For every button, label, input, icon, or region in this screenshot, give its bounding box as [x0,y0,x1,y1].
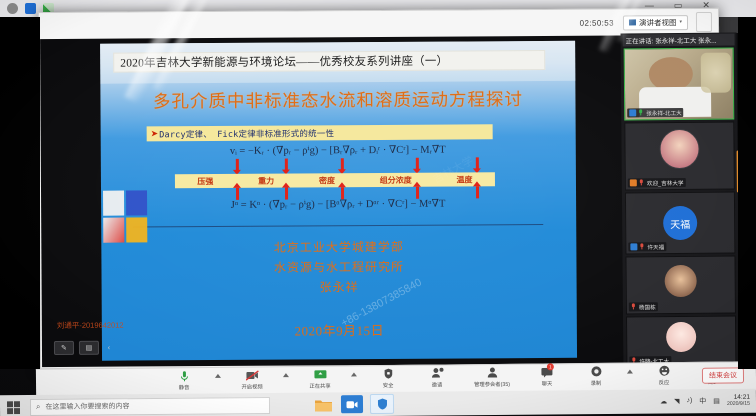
keyboard-icon[interactable]: ▤ [79,341,99,355]
affiliation-line-1: 北京工业大学城建学部 [101,237,576,257]
reactions-label: 反应 [659,378,670,386]
participant-video-sidebar: 正在讲话: 张永祥-北工大 张永... 张永祥-北工大 欢迎_吉林大学 天 [621,33,740,374]
background-decor [701,53,731,93]
bullet-band: ➤ Darcy定律、 Fick定律非标准形式的统一性 [147,124,493,141]
end-meeting-button[interactable]: 结束会议 [702,367,744,383]
presentation-stage: 2020年吉林大学新能源与环境论坛——优秀校友系列讲座（一） 多孔介质中非标准态… [40,35,719,367]
term-label-density: 密度 [319,175,335,186]
search-input[interactable]: ⌕ 在这里输入你要搜索的内容 [30,396,270,415]
participant-avatar-5 [666,322,696,352]
participant-name-4: 杨国栋 [639,303,656,311]
shield-icon [25,3,36,14]
mic-options-caret-icon[interactable] [215,374,221,378]
slide-headline: 多孔介质中非标准态水流和溶质运动方程探讨 [100,86,575,114]
term-arrowhead-up-5 [472,181,480,186]
photographed-monitor: 02:50:53 演讲者视图 ▾ fullscreen-icon — ▭ ✕ 2… [0,0,756,416]
chat-label: 聊天 [542,379,553,387]
mute-label: 静音 [179,383,190,391]
fullscreen-icon[interactable]: fullscreen-icon [696,12,712,32]
camera-off-icon [245,368,258,381]
slide-header-text: 2020年吉林大学新能源与环境论坛——优秀校友系列讲座（一） [120,53,448,71]
shield-icon [383,367,392,380]
bullet-arrow-icon: ➤ [151,128,159,139]
user-icon [630,243,637,250]
stage-watermark: 刘通平-2019642012 [57,320,124,331]
term-arrowhead-up-2 [281,183,289,188]
presenter-view-label: 演讲者视图 [639,17,677,28]
term-arrowhead-up-3 [337,182,345,187]
equation-1: vᵢ = −Kᵣ · (∇pᵣ − ρⁱg) − [Bᵣ∇ρᵣ + Dᵢʳ · … [133,143,543,158]
presenter-annotation-tools: ✎ ▤ ‹ [54,341,114,355]
bezel-left [0,17,40,369]
active-speaker-banner: 正在讲话: 张永祥-北工大 张永... [623,34,735,47]
slide-divider [133,224,543,228]
participant-avatar-4 [665,264,697,296]
participant-name-3: 许天福 [647,243,664,251]
share-screen-button[interactable]: 正在共享 [302,368,338,390]
term-label-temperature: 温度 [456,174,472,185]
screen-reflection-block [103,190,147,242]
participant-tile-1[interactable]: 张永祥-北工大 [624,48,735,121]
volume-icon[interactable]: ♪) [686,398,692,405]
user-icon [630,179,637,186]
participant-avatar-2 [659,129,699,169]
close-button[interactable]: ✕ [702,0,710,11]
maximize-button[interactable]: ▭ [674,0,683,11]
record-label: 录制 [591,379,602,387]
microphone-icon [179,369,188,382]
start-video-label: 开启视频 [241,382,262,390]
powerpoint-presenter-window: 02:50:53 演讲者视图 ▾ fullscreen-icon — ▭ ✕ 2… [38,8,721,369]
participant-initial-badge-3: 天福 [663,206,697,240]
participant-name-1: 张永祥-北工大 [646,108,682,116]
chat-unread-badge: 1 [547,363,554,370]
participant-name-tag-4: 杨国栋 [629,302,658,311]
windows-start-icon[interactable] [0,395,26,416]
security-label: 安全 [383,381,394,389]
manage-participants-button[interactable]: 管理参会者(35) [468,366,516,389]
invite-label: 邀请 [432,381,443,389]
keyboard-icon[interactable]: ▤ [713,397,720,405]
participant-tile-4[interactable]: 杨国栋 [625,256,736,315]
meeting-toolbar-items: 静音 开启视频 正在共享 安全 [166,363,731,391]
security-button[interactable]: 安全 [370,367,406,389]
monitor-icon [629,19,636,25]
bullet-text: Darcy定律、 Fick定律非标准形式的统一性 [159,127,334,140]
system-tray: ☁ ◥ ♪) 中 ▤ 14:21 2020/9/15 [660,395,756,408]
chat-button[interactable]: 1 聊天 [529,365,565,387]
equation-2: Jᵅ = Kᵅ · (∇pᵣ − ρⁱg) − [Bᵅ∇ρᵣ + Dᵅʳ · ∇… [133,197,543,212]
chevron-down-icon: ▾ [679,19,682,25]
participant-name-tag-3: 许天福 [628,242,666,251]
share-options-caret-icon[interactable] [351,372,357,376]
slide: 2020年吉林大学新能源与环境论坛——优秀校友系列讲座（一） 多孔介质中非标准态… [100,41,577,361]
chevron-left-icon[interactable]: ‹ [104,342,114,354]
active-speaker-text: 正在讲话: 张永祥-北工大 张永... [626,35,717,46]
term-label-pressure: 压强 [197,176,213,187]
security-shield-icon[interactable] [370,394,394,414]
participant-name-2: 欢迎_吉林大学 [647,178,684,186]
formula-block: ➤ Darcy定律、 Fick定律非标准形式的统一性 vᵢ = −Kᵣ · (∇… [133,124,544,222]
slide-date: 2020年9月15日 [102,319,577,341]
share-screen-icon [313,368,326,381]
slide-header-strip: 2020年吉林大学新能源与环境论坛——优秀校友系列讲座（一） [113,50,545,73]
share-screen-label: 正在共享 [309,382,330,390]
clock-date: 2020/9/15 [727,401,750,407]
wifi-icon[interactable]: ◥ [674,397,679,405]
onedrive-icon[interactable]: ☁ [660,397,667,405]
search-icon: ⌕ [36,402,41,412]
zoom-icon[interactable] [341,395,363,413]
record-icon [590,365,601,378]
invite-user-icon [430,367,443,380]
user-icon [629,109,636,116]
search-placeholder: 在这里输入你要搜索的内容 [45,401,129,412]
taskbar-clock[interactable]: 14:21 2020/9/15 [727,395,750,407]
participants-icon [485,366,498,379]
participant-name-tag-2: 欢迎_吉林大学 [628,178,686,188]
term-arrowhead-up-1 [232,183,240,188]
pen-icon[interactable]: ✎ [54,341,74,355]
ime-icon[interactable]: 中 [699,396,706,406]
invite-button[interactable]: 邀请 [419,366,455,388]
video-options-caret-icon[interactable] [283,373,289,377]
affiliation-line-2: 水资源与水工程研究所 [101,257,576,277]
term-arrowhead-up-4 [412,182,420,187]
chat-icon: 1 [541,365,553,378]
record-options-caret-icon[interactable] [627,370,633,374]
presenter-name: 张永祥 [102,277,577,297]
manage-participants-label: 管理参会者(35) [474,380,510,388]
info-icon [7,3,18,14]
presenter-view-button[interactable]: 演讲者视图 ▾ [623,15,688,30]
mic-muted-icon [631,303,637,310]
file-explorer-icon[interactable] [312,395,334,413]
bezel-right [738,17,756,369]
start-video-button[interactable]: 开启视频 [234,368,270,390]
participant-tile-3[interactable]: 天福 许天福 [625,192,736,255]
term-label-band: 压强 重力 密度 组分浓度 温度 [175,172,495,188]
mic-muted-icon [639,179,645,186]
mic-muted-icon [639,243,645,250]
reactions-icon [658,364,669,377]
term-label-gravity: 重力 [258,175,274,186]
window-controls: — ▭ ✕ [636,0,710,11]
participant-tile-5[interactable]: 许晓-北工大 [626,316,736,369]
participant-tile-2[interactable]: 欢迎_吉林大学 [624,122,735,191]
reactions-button[interactable]: 反应 [646,364,682,386]
term-label-concentration: 组分浓度 [380,174,412,185]
minimize-button[interactable]: — [645,0,654,11]
mic-on-icon [638,109,644,116]
record-button[interactable]: 录制 [578,365,614,387]
mute-button[interactable]: 静音 [166,369,202,391]
presentation-timer: 02:50:53 [580,18,614,27]
participant-name-tag-1: 张永祥-北工大 [627,108,684,117]
